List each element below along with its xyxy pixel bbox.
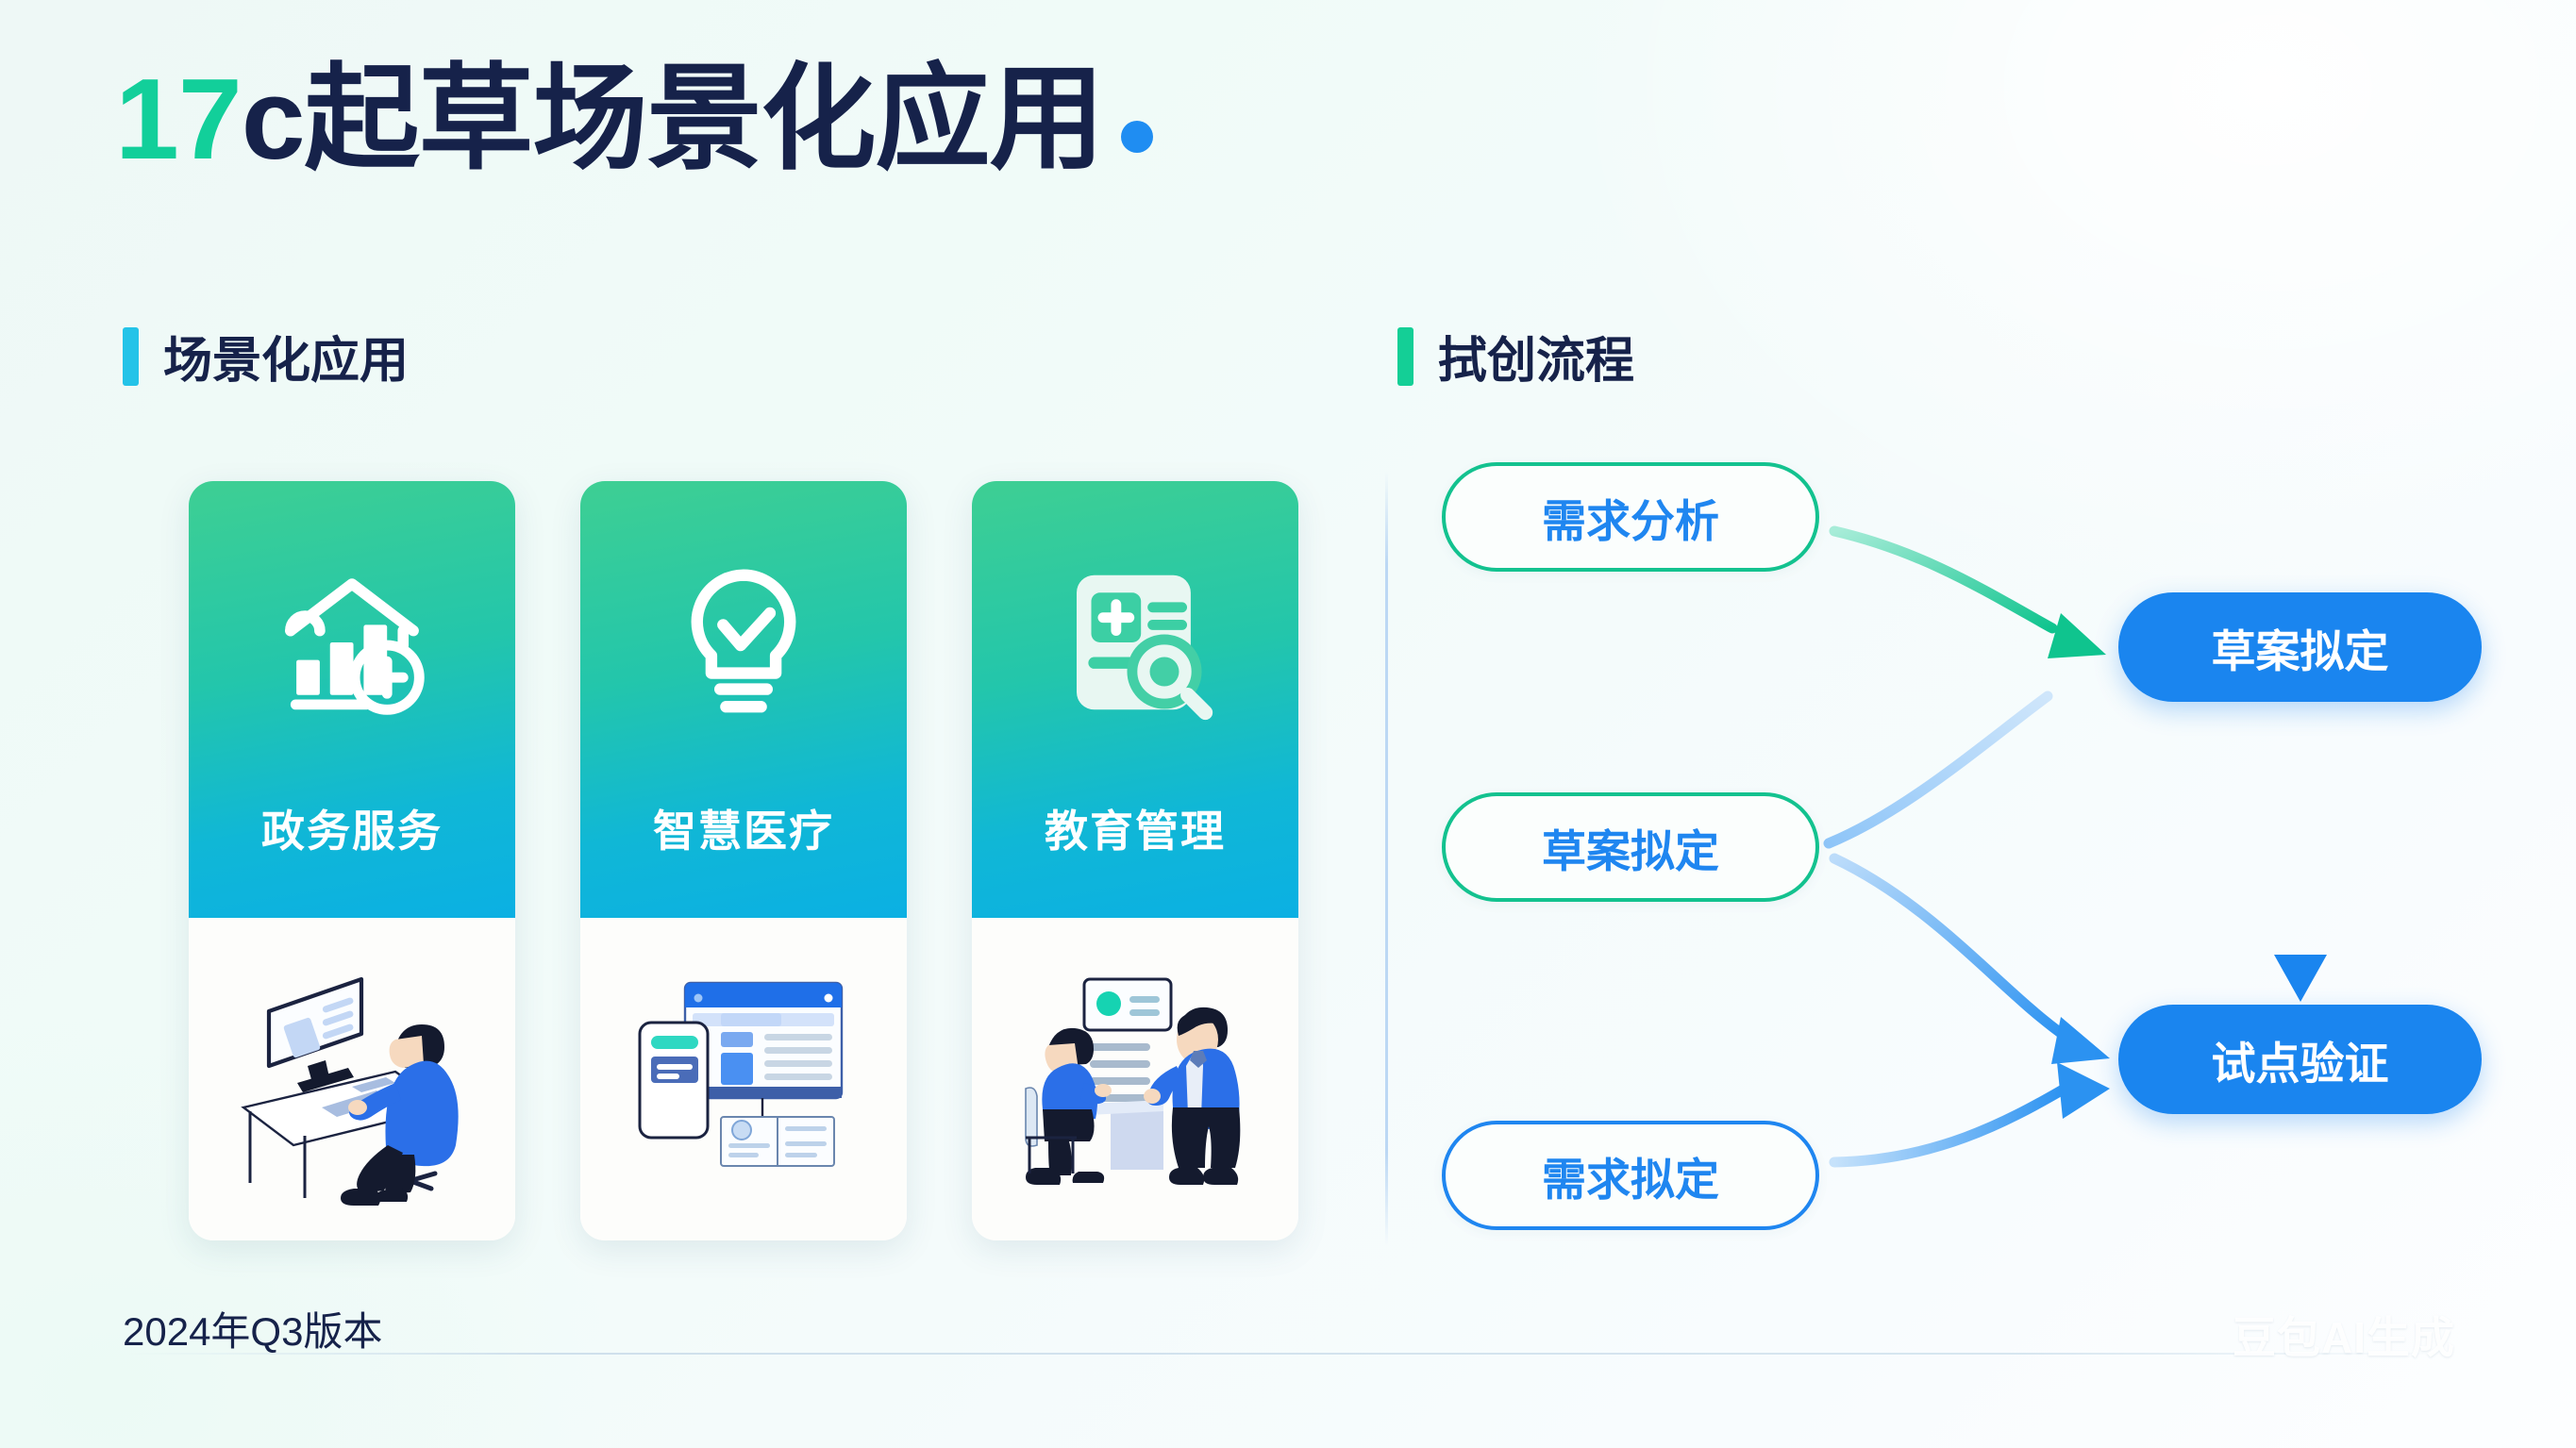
- flow-node-label: 需求拟定: [1542, 1143, 1719, 1208]
- section-accent-bar: [1397, 327, 1413, 386]
- flow-node-requirement-analysis[interactable]: 需求分析: [1442, 462, 1819, 572]
- flow-node-label: 草案拟定: [2212, 615, 2389, 680]
- flow-node-label: 试点验证: [2212, 1027, 2389, 1092]
- phone-and-browser-window-illustration: [602, 941, 885, 1217]
- card-label: 教育管理: [972, 797, 1298, 859]
- scenario-card-healthcare[interactable]: 智慧医疗: [580, 481, 907, 1240]
- flow-node-draft-formulation-outline[interactable]: 草案拟定: [1442, 792, 1819, 902]
- section-heading-label: 拭创流程: [1438, 321, 1634, 391]
- footer-divider: [121, 1353, 2442, 1355]
- arrowhead-green: [2048, 613, 2106, 658]
- footer-version: 2024年Q3版本: [123, 1300, 382, 1357]
- page-title: 17c起草场景化应用: [115, 55, 1153, 184]
- flow-node-label: 需求分析: [1542, 485, 1719, 550]
- arrowhead-blue-2: [2057, 1062, 2110, 1119]
- arrowhead-blue-1: [2051, 1017, 2110, 1064]
- flow-node-draft-formulation-filled[interactable]: 草案拟定: [2118, 592, 2482, 702]
- process-flow-diagram: 需求分析 草案拟定 需求拟定 草案拟定 试点验证: [1434, 462, 2491, 1255]
- section-heading-process: 拭创流程: [1397, 321, 1634, 391]
- section-heading-label: 场景化应用: [163, 321, 409, 391]
- slide-canvas: 17c起草场景化应用 场景化应用 拭创流程: [0, 0, 2576, 1448]
- flow-node-requirement-formulation[interactable]: 需求拟定: [1442, 1121, 1819, 1230]
- card-illustration-area: [972, 918, 1298, 1240]
- card-illustration-area: [189, 918, 515, 1240]
- flow-node-label: 草案拟定: [1542, 815, 1719, 880]
- scenario-card-government[interactable]: 政务服务: [189, 481, 515, 1240]
- card-header: 教育管理: [972, 481, 1298, 918]
- card-illustration-area: [580, 918, 907, 1240]
- scenario-card-education[interactable]: 教育管理: [972, 481, 1298, 1240]
- title-dot-icon: [1121, 121, 1153, 153]
- document-calculator-search-icon: [1047, 555, 1223, 730]
- page-title-rest: c起草场景化应用: [242, 55, 1104, 183]
- card-label: 政务服务: [189, 797, 515, 859]
- section-accent-bar: [123, 327, 139, 386]
- two-people-consultation-illustration: [994, 941, 1277, 1217]
- section-heading-scenarios: 场景化应用: [123, 321, 409, 391]
- connector-blue-n3-n5: [1834, 1089, 2065, 1162]
- vertical-divider: [1385, 472, 1388, 1245]
- watermark: 豆包AI生成: [2233, 1304, 2455, 1366]
- connector-blue-n2-n5: [1834, 858, 2065, 1036]
- card-label: 智慧医疗: [580, 797, 907, 859]
- arrowhead-vertical: [2274, 955, 2327, 1002]
- page-title-number: 17: [115, 55, 242, 183]
- lightbulb-check-icon: [656, 555, 831, 730]
- house-bar-chart-plus-icon: [264, 555, 440, 730]
- card-header: 智慧医疗: [580, 481, 907, 918]
- flow-node-pilot-verification[interactable]: 试点验证: [2118, 1005, 2482, 1114]
- person-at-desk-with-monitor-illustration: [210, 941, 493, 1217]
- card-header: 政务服务: [189, 481, 515, 918]
- connector-green-n1-n4: [1834, 531, 2052, 628]
- scenario-card-list: 政务服务: [189, 481, 1298, 1240]
- connector-blue-n2-n4: [1829, 696, 2048, 843]
